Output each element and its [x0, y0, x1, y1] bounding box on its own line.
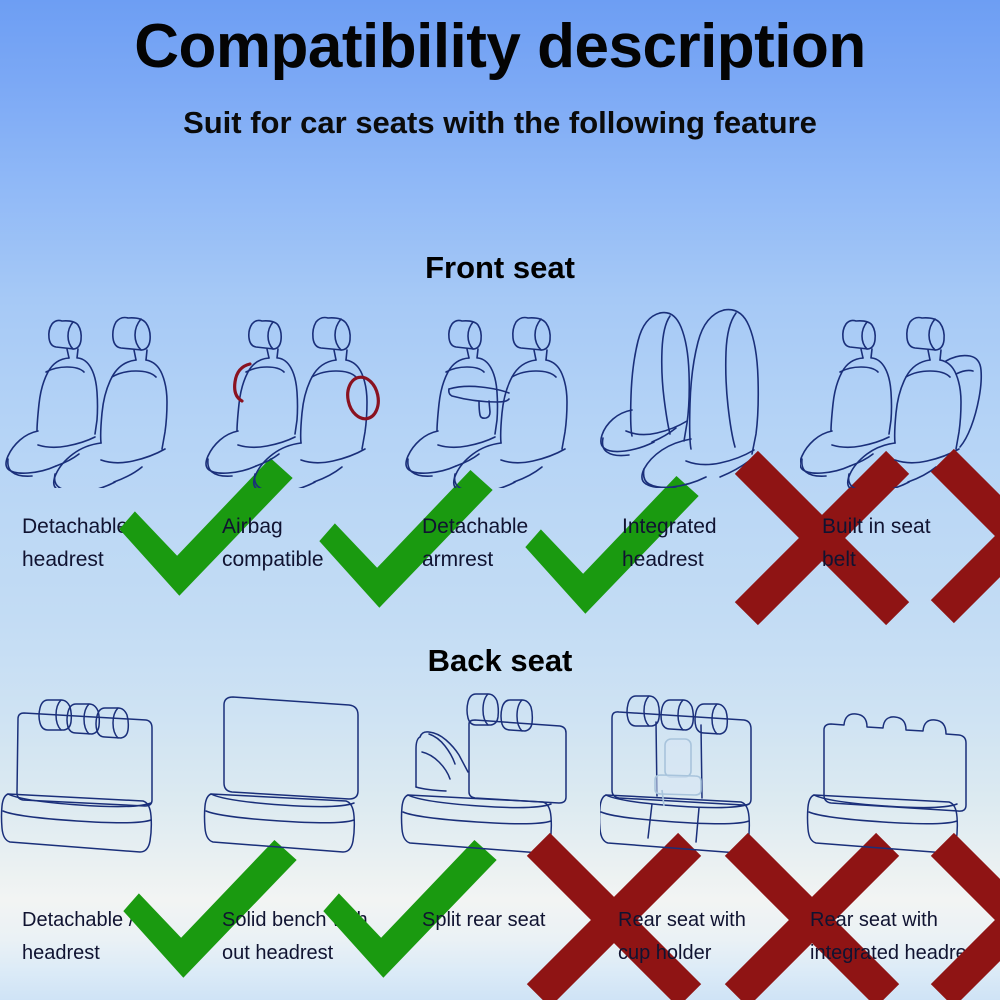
- compat-item-label: Solid bench with out headrest: [200, 904, 400, 970]
- page-title: Compatibility description: [0, 8, 1000, 86]
- compat-item-label: Detachable armrest: [400, 510, 600, 576]
- compat-item-label: Rear seat with cup holder: [600, 904, 800, 970]
- compat-item-label: Rear seat with integrated headrest: [800, 904, 1000, 970]
- armrest-shape: [449, 386, 509, 418]
- front-seat-armrest-icon: [400, 288, 600, 488]
- compat-item-front-builtin-belt: Built in seat belt: [800, 288, 1000, 576]
- back-seat-detachable-headrest-icon: [0, 682, 200, 882]
- compatibility-infographic: Compatibility description Suit for car s…: [0, 0, 1000, 1000]
- compat-item-label: Split rear seat: [400, 904, 600, 937]
- back-seat-solid-bench-icon: [200, 682, 400, 882]
- back-seat-split-icon: [400, 682, 600, 882]
- cup-holder-shape: [655, 739, 701, 806]
- airbag-marker: [235, 364, 382, 422]
- front-seat-integrated-headrest-icon: [600, 288, 800, 488]
- compat-item-label: Integrated headrest: [600, 510, 800, 576]
- compat-item-label: Airbag compatible: [200, 510, 400, 576]
- compat-item-back-solid-bench: Solid bench with out headrest: [200, 682, 400, 970]
- compat-item-back-integrated-headrest: Rear seat with integrated headrest: [800, 682, 1000, 970]
- compat-item-label: Detachable / headrest: [0, 510, 200, 576]
- compat-item-front-armrest: Detachable armrest: [400, 288, 600, 576]
- back-seat-integrated-headrest-icon: [800, 682, 1000, 882]
- compat-item-back-split: Split rear seat: [400, 682, 600, 970]
- back-seat-row: Detachable / headrest Solid bench with o…: [0, 682, 1000, 970]
- back-seat-cup-holder-icon: [600, 682, 800, 882]
- compat-item-front-detachable-headrest: Detachable / headrest: [0, 288, 200, 576]
- compat-item-front-integrated-headrest: Integrated headrest: [600, 288, 800, 576]
- front-seat-airbag-icon: [200, 288, 400, 488]
- page-subtitle: Suit for car seats with the following fe…: [0, 100, 1000, 146]
- section-heading-front: Front seat: [0, 250, 1000, 286]
- compat-item-label: Built in seat belt: [800, 510, 1000, 576]
- compat-item-front-airbag: Airbag compatible: [200, 288, 400, 576]
- compat-item-back-cup-holder: Rear seat with cup holder: [600, 682, 800, 970]
- section-heading-back: Back seat: [0, 643, 1000, 679]
- front-seat-builtin-belt-icon: [800, 288, 1000, 488]
- compat-item-back-detachable-headrest: Detachable / headrest: [0, 682, 200, 970]
- front-seat-row: Detachable / headrest: [0, 288, 1000, 576]
- compat-item-label: Detachable / headrest: [0, 904, 200, 970]
- front-seat-detachable-headrest-icon: [0, 288, 200, 488]
